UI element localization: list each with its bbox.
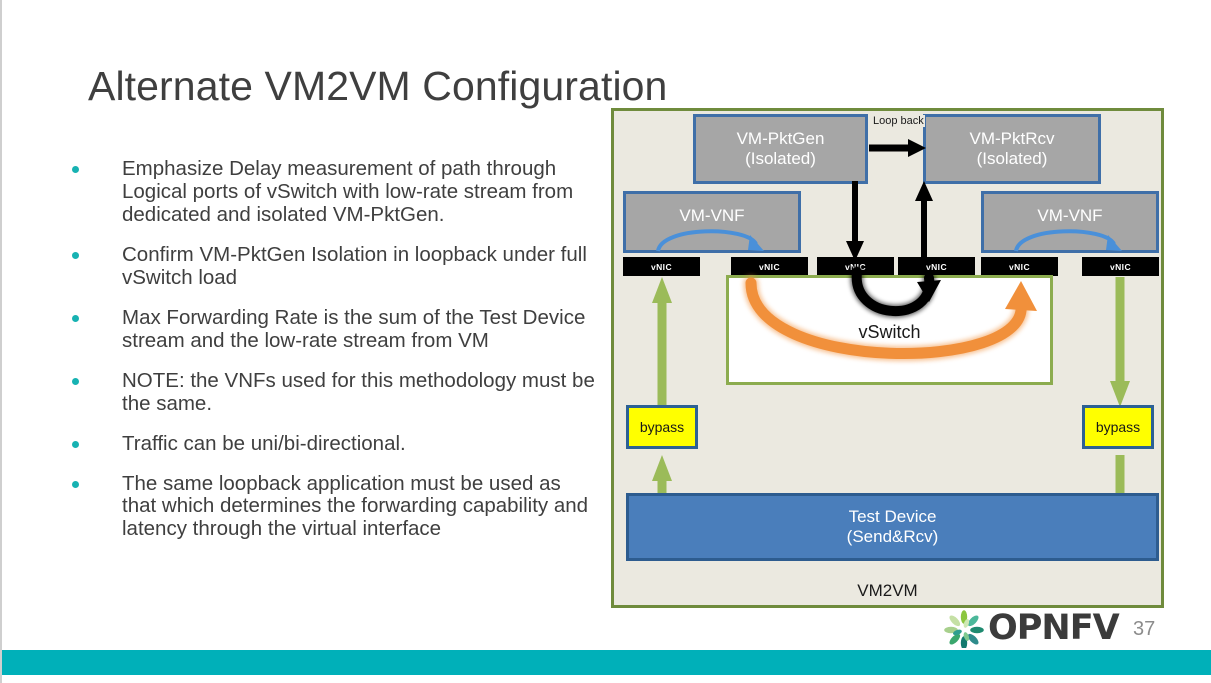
bullet-text: Emphasize Delay measurement of path thro… — [122, 157, 573, 226]
vswitch-box: vSwitch — [726, 275, 1053, 385]
list-item: The same loopback application must be us… — [64, 473, 599, 542]
test-device-line2: (Send&Rcv) — [847, 527, 939, 547]
vm-vnf-left-box: VM-VNF — [623, 191, 801, 253]
vm-pktgen-box: VM-PktGen (Isolated) — [693, 114, 868, 184]
vnic-box: vNIC — [623, 257, 700, 276]
test-device-box: Test Device (Send&Rcv) — [626, 493, 1159, 561]
bypass-left-box: bypass — [626, 405, 698, 449]
bullet-dot-icon — [72, 441, 79, 448]
bullet-dot-icon — [72, 481, 79, 488]
vm-pktgen-line1: VM-PktGen — [737, 129, 825, 149]
vm-pktrcv-line1: VM-PktRcv — [970, 129, 1055, 149]
list-item: NOTE: the VNFs used for this methodology… — [64, 370, 599, 416]
vnic-box: vNIC — [1082, 257, 1159, 276]
vswitch-to-pktrcv-arrow-icon — [911, 181, 937, 261]
vm-vnf-right-box: VM-VNF — [981, 191, 1159, 253]
pktgen-to-vswitch-arrow-icon — [842, 181, 868, 261]
footer-accent-bar — [2, 650, 1211, 675]
list-item: Confirm VM-PktGen Isolation in loopback … — [64, 244, 599, 290]
loopback-label: Loop back — [872, 115, 925, 127]
bullet-text: NOTE: the VNFs used for this methodology… — [122, 369, 595, 415]
green-flow-left-upper-arrow-icon — [650, 277, 674, 407]
list-item: Emphasize Delay measurement of path thro… — [64, 158, 599, 227]
bullet-text: Confirm VM-PktGen Isolation in loopback … — [122, 243, 587, 289]
bullet-text: The same loopback application must be us… — [122, 472, 588, 541]
vswitch-label: vSwitch — [729, 322, 1050, 343]
opnfv-logo: OPNFV — [942, 608, 1119, 648]
bullet-dot-icon — [72, 166, 79, 173]
list-item: Max Forwarding Rate is the sum of the Te… — [64, 307, 599, 353]
test-device-line1: Test Device — [849, 507, 937, 527]
bullet-list: Emphasize Delay measurement of path thro… — [64, 158, 599, 558]
vm-vnf-right-label: VM-VNF — [1037, 206, 1102, 226]
green-flow-right-upper-arrow-icon — [1108, 277, 1132, 407]
page-title: Alternate VM2VM Configuration — [88, 63, 667, 110]
bullet-text: Traffic can be uni/bi-directional. — [122, 432, 406, 455]
bullet-dot-icon — [72, 378, 79, 385]
list-item: Traffic can be uni/bi-directional. — [64, 433, 599, 456]
page-number: 37 — [1133, 618, 1155, 641]
vm2vm-diagram: VM-PktGen (Isolated) VM-PktRcv (Isolated… — [611, 108, 1164, 608]
bullet-dot-icon — [72, 315, 79, 322]
vm-pktrcv-line2: (Isolated) — [977, 149, 1048, 169]
vm-pktrcv-box: VM-PktRcv (Isolated) — [923, 114, 1101, 184]
bullet-dot-icon — [72, 252, 79, 259]
opnfv-mark-icon — [942, 608, 986, 648]
vm-pktgen-line2: (Isolated) — [745, 149, 816, 169]
bullet-text: Max Forwarding Rate is the sum of the Te… — [122, 306, 585, 352]
vm-vnf-left-label: VM-VNF — [679, 206, 744, 226]
vm2vm-frame-label: VM2VM — [614, 581, 1161, 601]
loopback-arrow-icon — [868, 137, 926, 159]
opnfv-wordmark: OPNFV — [988, 608, 1119, 648]
bypass-right-box: bypass — [1082, 405, 1154, 449]
slide-canvas: Alternate VM2VM Configuration Emphasize … — [0, 0, 1211, 683]
